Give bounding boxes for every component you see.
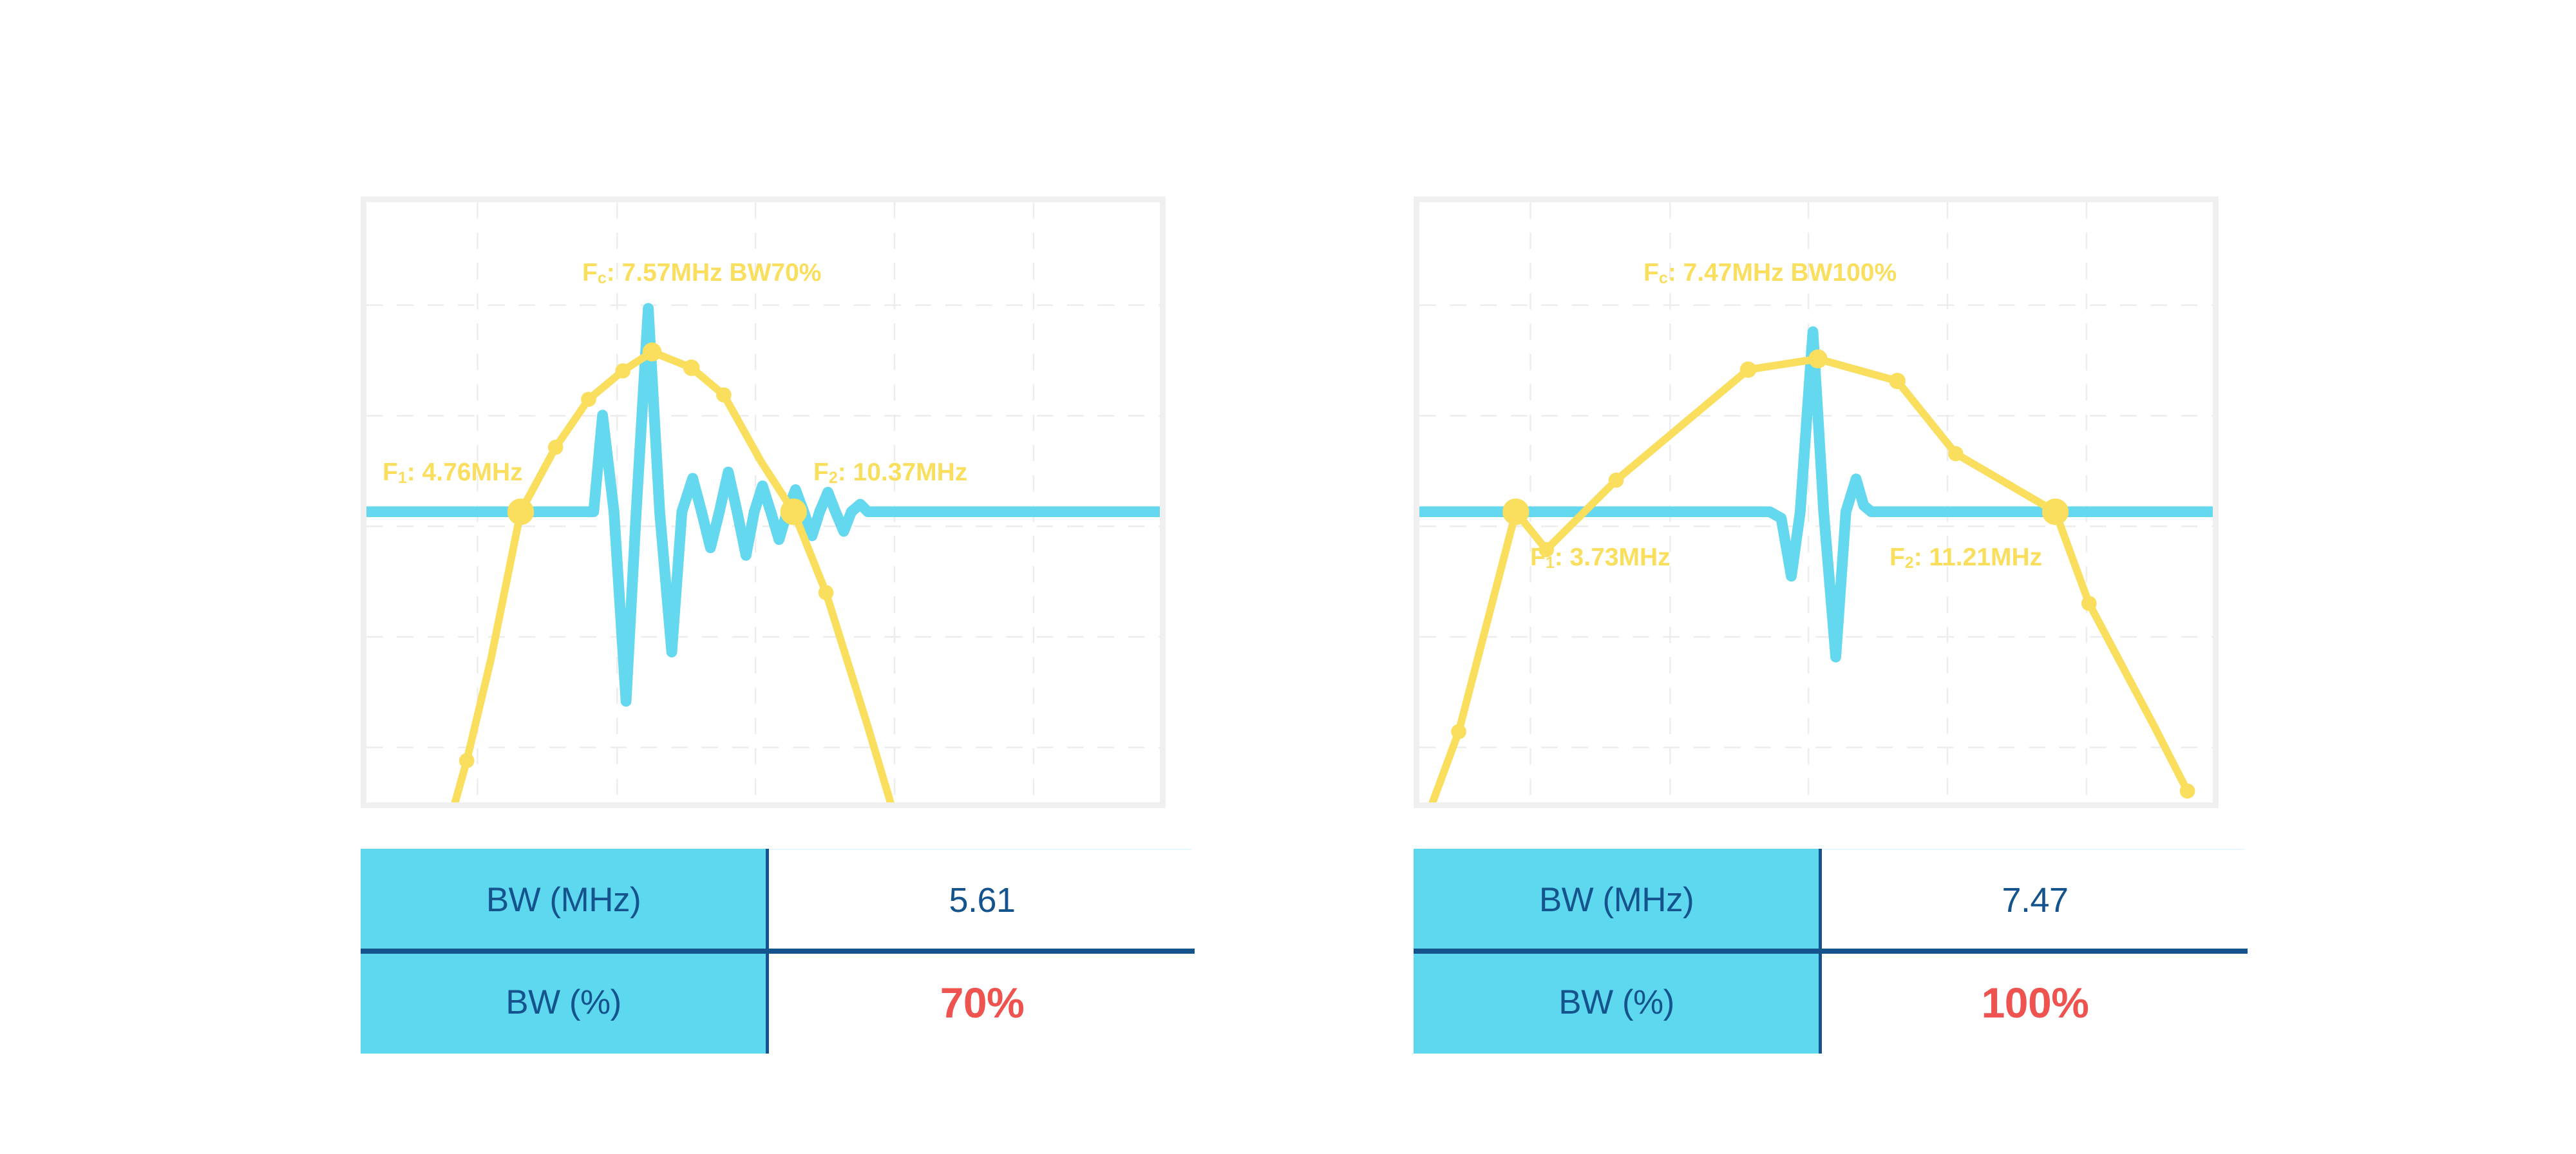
annotation-fc-right: Fc: 7.47MHz BW100% — [1643, 259, 1897, 288]
table-row: BW (MHz) 5.61 — [361, 849, 1198, 951]
bw-mhz-value-cell: 5.61 — [766, 849, 1198, 951]
table-top-hairline — [766, 849, 1191, 850]
bw-mhz-label: BW (MHz) — [1539, 880, 1694, 920]
annotation-f2-subscript: 2 — [1905, 554, 1914, 572]
spectrum-plot-left: Fc: 7.57MHz BW70% F1: 4.76MHz F2: 10.37M… — [361, 196, 1166, 808]
annotation-f1-subscript: 1 — [1546, 554, 1555, 572]
annotation-f1-text: : 3.73MHz — [1555, 544, 1671, 571]
bw-mhz-value: 7.47 — [2002, 880, 2068, 920]
annotation-f1-subscript: 1 — [398, 469, 407, 487]
table-row: BW (%) 70% — [361, 951, 1198, 1054]
bw-pct-label: BW (%) — [506, 983, 621, 1022]
bw-mhz-value: 5.61 — [949, 880, 1015, 920]
screenshot-stage: Fc: 7.57MHz BW70% F1: 4.76MHz F2: 10.37M… — [0, 0, 2576, 1154]
annotation-f1-text: : 4.76MHz — [407, 459, 523, 486]
annotation-fc-subscript: c — [1659, 269, 1668, 287]
bw-pct-label: BW (%) — [1558, 983, 1674, 1022]
annotation-fc-subscript: c — [598, 269, 607, 287]
bw-pct-value: 100% — [1982, 978, 2089, 1027]
bandwidth-table-right: BW (MHz) 7.47 BW (%) 100% — [1414, 849, 2251, 1054]
annotation-fc-text: : 7.57MHz BW70% — [607, 259, 822, 287]
table-horizontal-divider — [1414, 949, 2248, 954]
table-row: BW (%) 100% — [1414, 951, 2251, 1054]
grid-lines — [1419, 202, 2213, 802]
table-row: BW (MHz) 7.47 — [1414, 849, 2251, 951]
bandwidth-panel-left: Fc: 7.57MHz BW70% F1: 4.76MHz F2: 10.37M… — [258, 0, 1352, 1154]
annotation-f2-subscript: 2 — [829, 469, 838, 487]
bw-mhz-label: BW (MHz) — [486, 880, 641, 920]
spectrum-plot-right: Fc: 7.47MHz BW100% F1: 3.73MHz F2: 11.21… — [1414, 196, 2219, 808]
annotation-f1-prefix: F — [383, 459, 398, 486]
bandwidth-table-left: BW (MHz) 5.61 BW (%) 70% — [361, 849, 1198, 1054]
bandwidth-panel-right: Fc: 7.47MHz BW100% F1: 3.73MHz F2: 11.21… — [1311, 0, 2405, 1154]
annotation-f2-text: : 10.37MHz — [838, 459, 968, 486]
spectrum-plot-svg-left — [366, 202, 1160, 802]
bw-pct-value-cell: 100% — [1819, 951, 2251, 1054]
bw-mhz-value-cell: 7.47 — [1819, 849, 2251, 951]
annotation-f2-prefix: F — [813, 459, 829, 486]
spectrum-plot-svg-right — [1419, 202, 2213, 802]
annotation-fc-left: Fc: 7.57MHz BW70% — [582, 259, 821, 288]
bw-mhz-label-cell: BW (MHz) — [1414, 849, 1819, 951]
bw-pct-label-cell: BW (%) — [361, 951, 766, 1054]
annotation-fc-prefix: F — [1643, 259, 1659, 287]
bw-mhz-label-cell: BW (MHz) — [361, 849, 766, 951]
table-top-hairline — [1819, 849, 2244, 850]
annotation-f1-prefix: F — [1530, 544, 1546, 571]
bw-pct-value: 70% — [940, 978, 1025, 1027]
annotation-fc-text: : 7.47MHz BW100% — [1668, 259, 1897, 287]
annotation-f1-right: F1: 3.73MHz — [1530, 544, 1671, 572]
annotation-f2-right: F2: 11.21MHz — [1889, 544, 2042, 572]
annotation-f1-left: F1: 4.76MHz — [383, 459, 523, 487]
bw-pct-label-cell: BW (%) — [1414, 951, 1819, 1054]
annotation-fc-prefix: F — [582, 259, 598, 287]
pulse-waveform-left — [366, 308, 1160, 701]
annotation-f2-left: F2: 10.37MHz — [813, 459, 967, 487]
bw-pct-value-cell: 70% — [766, 951, 1198, 1054]
annotation-f2-prefix: F — [1889, 544, 1905, 571]
table-horizontal-divider — [361, 949, 1195, 954]
annotation-f2-text: : 11.21MHz — [1914, 544, 2042, 571]
